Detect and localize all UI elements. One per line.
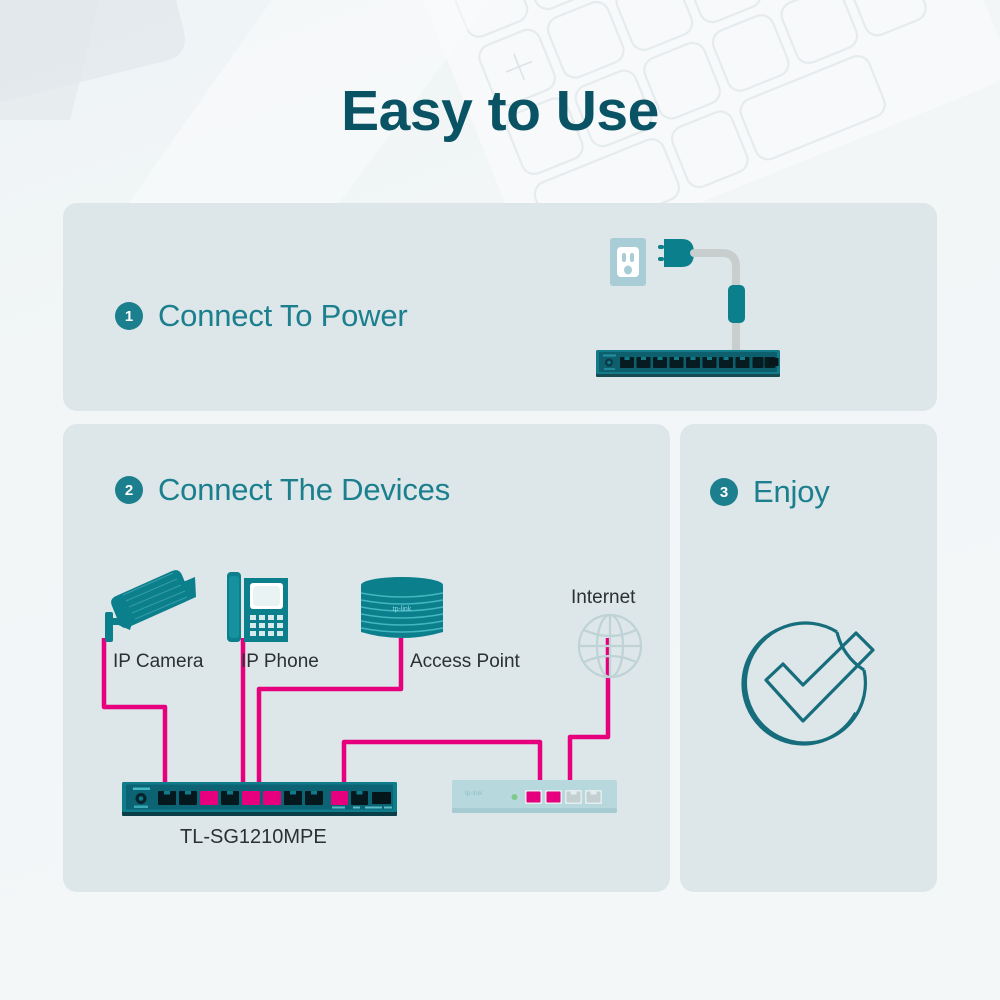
- step-1-title: Connect To Power: [158, 298, 408, 334]
- page-title: Easy to Use: [0, 78, 1000, 144]
- step-3-badge: 3: [710, 478, 738, 506]
- step-1-header: 1 Connect To Power: [115, 298, 408, 334]
- router-brand: tp-link: [465, 790, 483, 797]
- step-2-title: Connect The Devices: [158, 472, 450, 508]
- step-1-badge: 1: [115, 302, 143, 330]
- step-2-header: 2 Connect The Devices: [115, 472, 450, 508]
- ip-phone-icon: [226, 568, 290, 646]
- router-status-led: [512, 794, 518, 800]
- access-point-brand: tp-link: [393, 606, 412, 613]
- label-internet: Internet: [571, 587, 635, 609]
- label-ip-camera: IP Camera: [113, 651, 203, 673]
- step-1-network-switch: [596, 350, 780, 380]
- access-point-icon: tp-link: [358, 576, 446, 642]
- step-2-router: tp-link: [452, 780, 617, 816]
- label-ip-phone: IP Phone: [241, 651, 319, 673]
- ip-camera-icon: [97, 568, 197, 644]
- step-3-title: Enjoy: [753, 474, 830, 510]
- wall-outlet-icon: [610, 238, 646, 286]
- power-plug-icon: [658, 239, 694, 267]
- check-circle-icon: [733, 608, 885, 760]
- label-switch-model: TL-SG1210MPE: [180, 826, 327, 849]
- step-3-header: 3 Enjoy: [710, 474, 830, 510]
- step-2-network-switch: [122, 782, 397, 818]
- step-2-badge: 2: [115, 476, 143, 504]
- globe-icon: [576, 612, 644, 680]
- power-adapter-icon: [728, 285, 745, 323]
- label-access-point: Access Point: [410, 651, 520, 673]
